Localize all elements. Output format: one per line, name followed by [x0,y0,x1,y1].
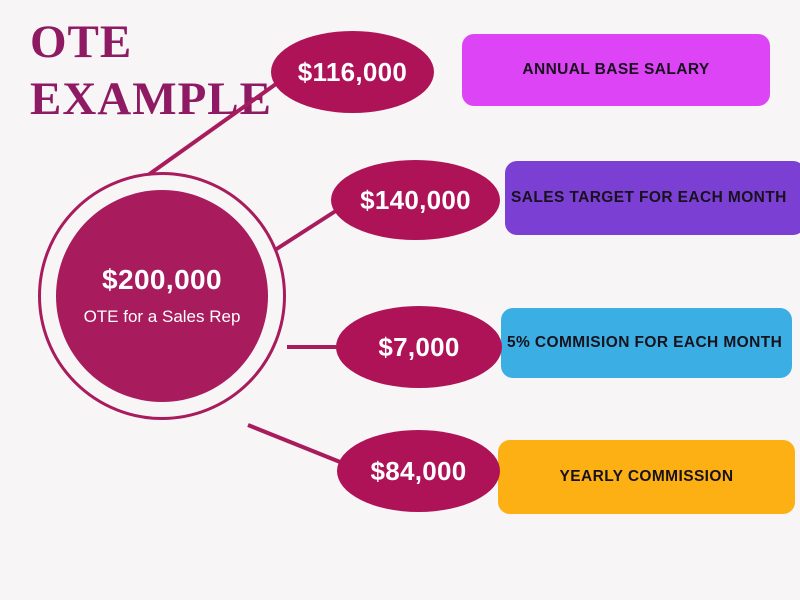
category-label-2: SALES TARGET FOR EACH MONTH [505,161,800,235]
category-label-4: YEARLY COMMISSION [498,440,795,514]
hub-circle: $200,000 OTE for a Sales Rep [38,172,286,420]
category-label-3: 5% COMMISION FOR EACH MONTH [501,308,792,378]
amount-bubble-2: $140,000 [331,160,500,240]
category-label-1: ANNUAL BASE SALARY [462,34,770,106]
hub-caption: OTE for a Sales Rep [84,306,241,327]
infographic-canvas: OTE EXAMPLE $200,000 OTE for a Sales Rep… [0,0,800,600]
hub-amount: $200,000 [102,264,222,296]
hub-inner-circle: $200,000 OTE for a Sales Rep [56,190,268,402]
amount-bubble-3: $7,000 [336,306,502,388]
amount-bubble-4: $84,000 [337,430,500,512]
amount-bubble-1: $116,000 [271,31,434,113]
